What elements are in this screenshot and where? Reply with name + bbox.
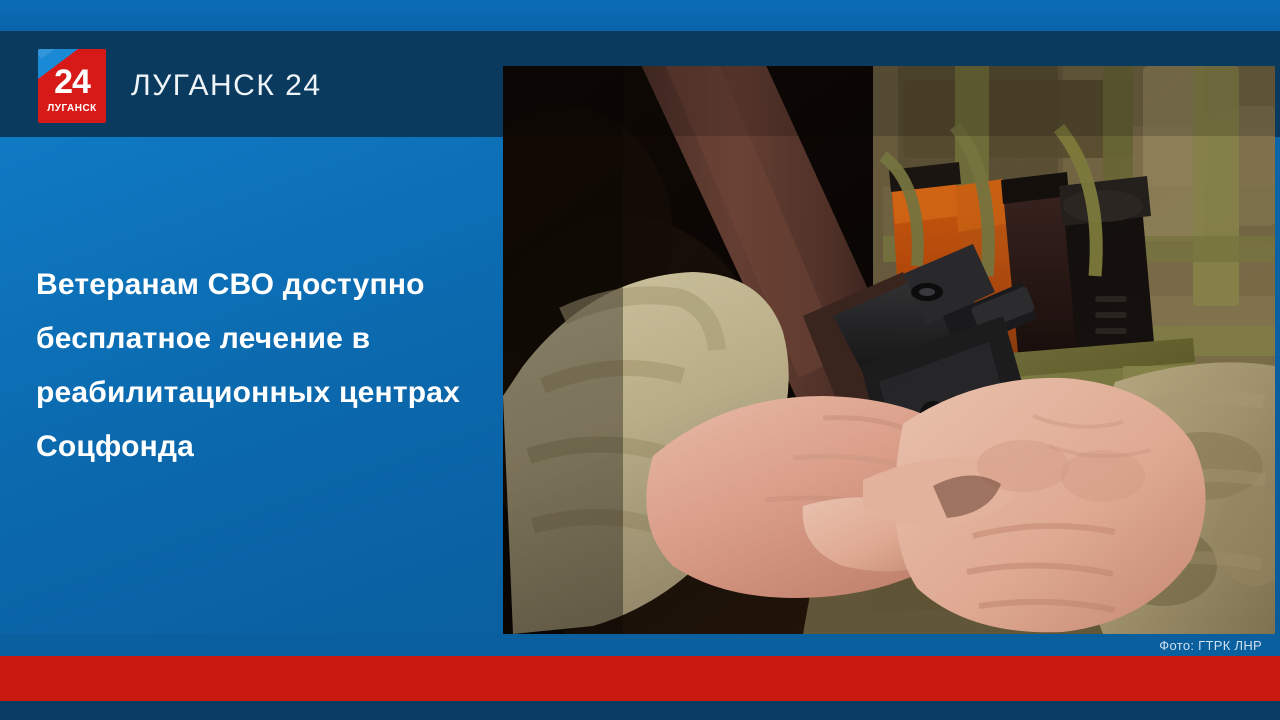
photo-credit: Фото: ГТРК ЛНР bbox=[1159, 638, 1262, 653]
channel-branding: 24 ЛУГАНСК ЛУГАНСК 24 bbox=[38, 49, 322, 123]
photo-illustration bbox=[503, 66, 1275, 634]
headline-text: Ветеранам СВО доступно бесплатное лечени… bbox=[36, 258, 466, 474]
channel-title: ЛУГАНСК 24 bbox=[131, 69, 322, 103]
logo-number: 24 bbox=[38, 65, 106, 99]
news-photo bbox=[503, 66, 1275, 634]
bottom-blue-strip bbox=[0, 634, 1280, 656]
bottom-navy-strip bbox=[0, 701, 1280, 720]
channel-logo-icon: 24 ЛУГАНСК bbox=[38, 49, 106, 123]
bottom-red-accent-band bbox=[0, 656, 1280, 701]
logo-city-label: ЛУГАНСК bbox=[38, 103, 106, 114]
news-graphic: 24 ЛУГАНСК ЛУГАНСК 24 Ветеранам СВО дост… bbox=[0, 0, 1280, 720]
top-accent-strip bbox=[0, 0, 1280, 31]
